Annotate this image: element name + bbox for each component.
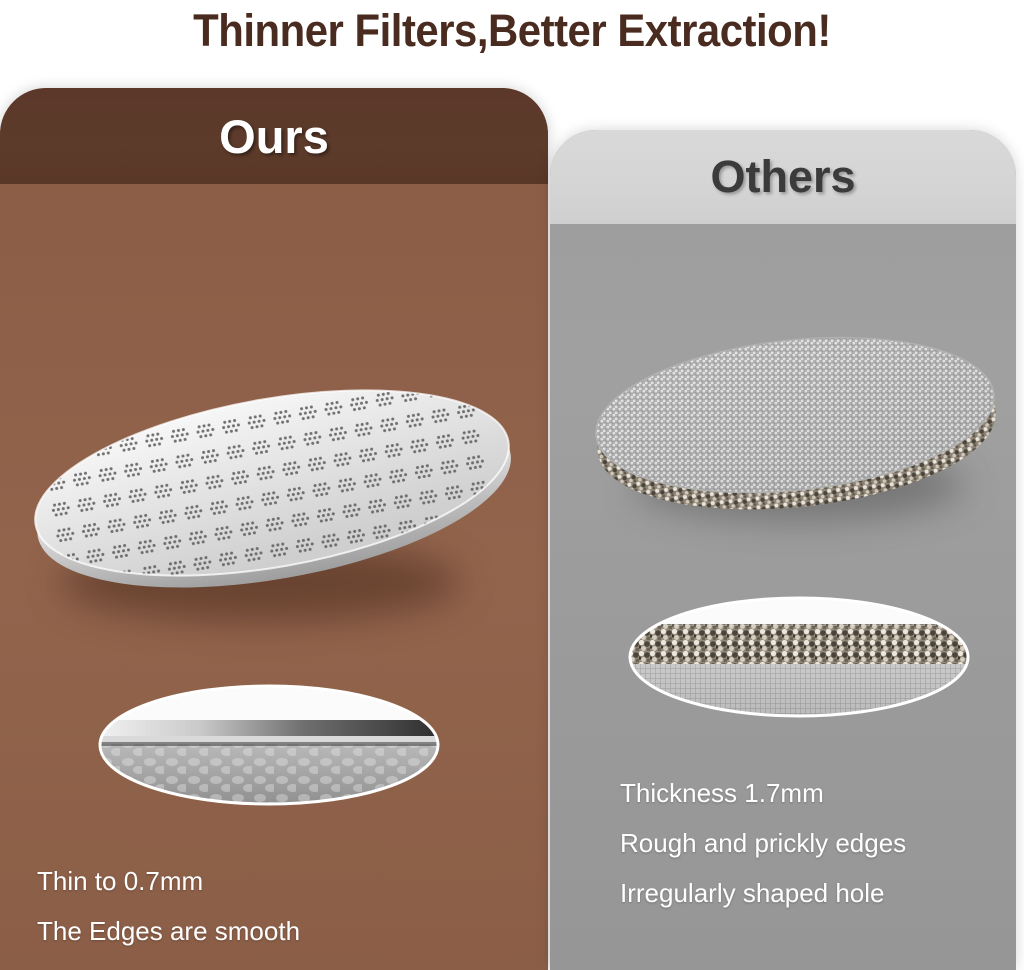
list-item: The Edges are smooth [37,906,527,956]
list-item: Thickness 1.7mm [620,768,1010,818]
ours-header: Ours [0,88,548,184]
page-title: Thinner Filters,Better Extraction! [36,0,988,62]
others-title: Others [710,151,855,203]
list-item: Rough and prickly edges [620,818,1010,868]
comparison-panel-ours: Ours Thin to 0.7mm The Edges are smooth … [0,88,548,970]
others-header: Others [550,130,1016,224]
list-item: Irregularly shaped hole [620,868,1010,918]
perforated-metal-filter-disc [22,383,522,613]
ours-feature-list: Thin to 0.7mm The Edges are smooth Unifo… [37,856,527,970]
smooth-edge-closeup [98,684,440,806]
woven-mesh-filter-disc [585,330,1005,515]
rough-edge-closeup [628,596,970,718]
comparison-panel-others: Others Thickness 1.7mm Rough and prickly… [550,130,1016,970]
list-item: Uniform perforation distribution [37,956,527,970]
others-feature-list: Thickness 1.7mm Rough and prickly edges … [620,768,1010,918]
list-item: Thin to 0.7mm [37,856,527,906]
ours-title: Ours [219,109,329,164]
